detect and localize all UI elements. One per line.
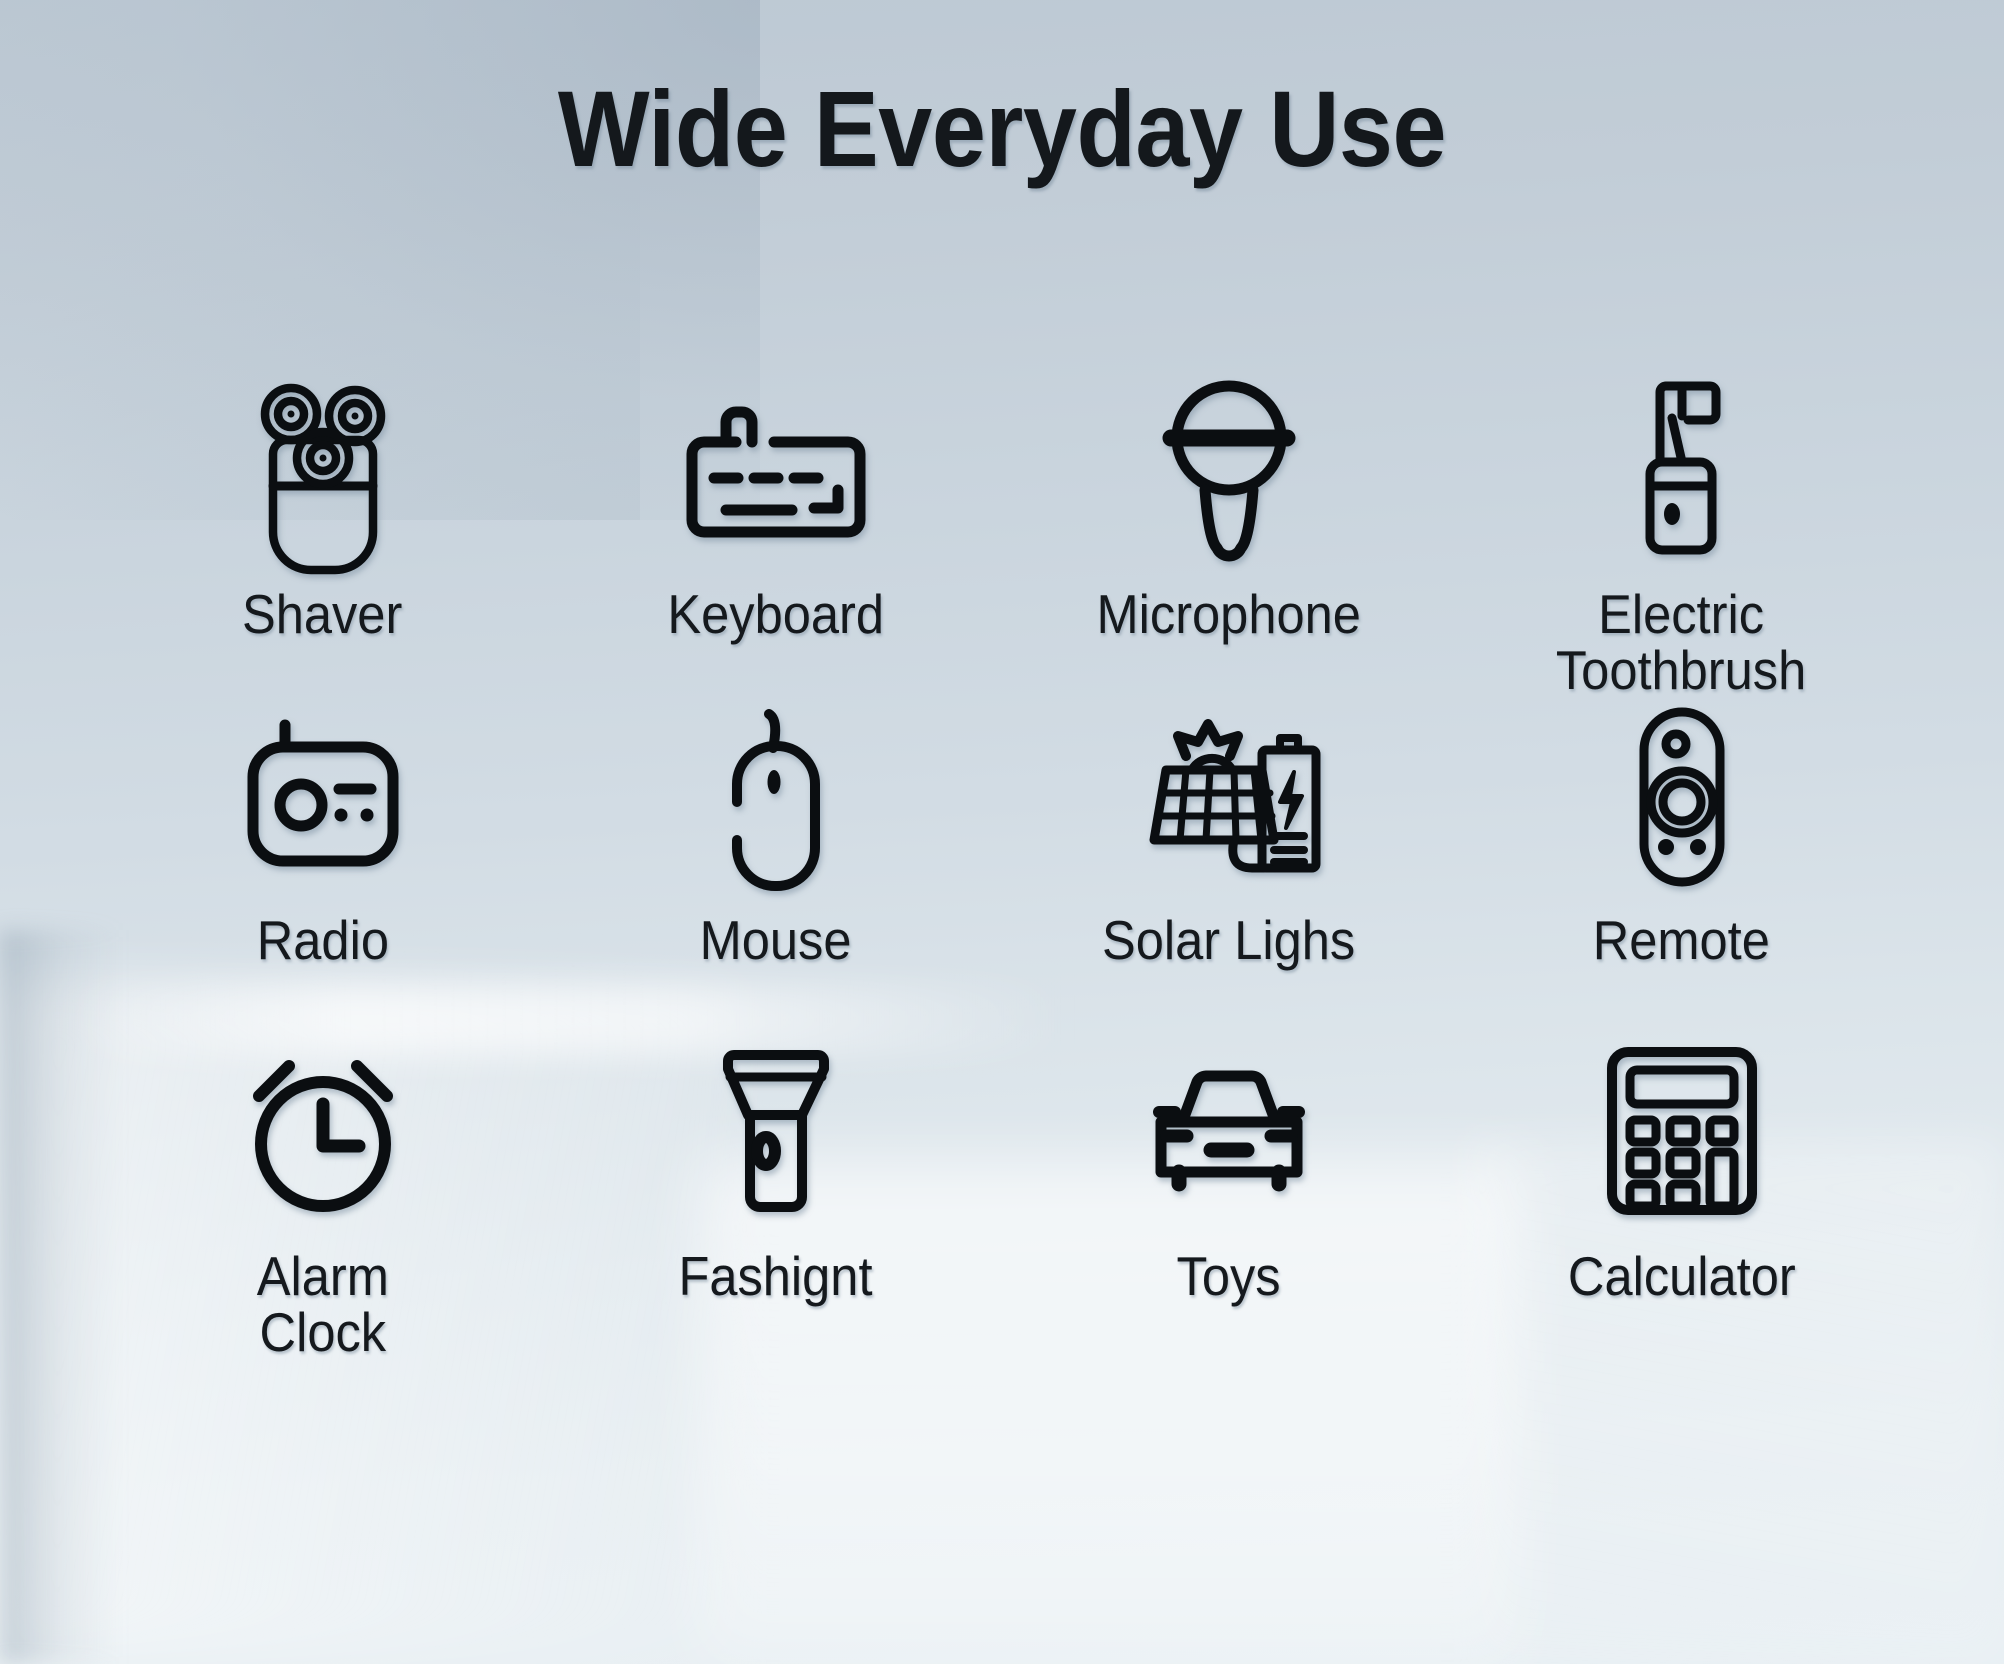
- feature-item-remote: Remote: [1455, 704, 1908, 1036]
- feature-item-mouse: Mouse: [549, 704, 1002, 1036]
- electric-toothbrush-icon: [1628, 372, 1736, 564]
- feature-item-alarm-clock: Alarm Clock: [96, 1036, 549, 1368]
- alarm-clock-icon: [237, 1036, 409, 1226]
- feature-item-solar-lights: Solar Lighs: [1002, 704, 1455, 1036]
- feature-label: Mouse: [700, 912, 852, 968]
- calculator-icon: [1602, 1036, 1762, 1226]
- microphone-icon: [1150, 372, 1308, 564]
- feature-item-flashlight: Fashignt: [549, 1036, 1002, 1368]
- feature-label: Remote: [1593, 912, 1770, 968]
- feature-label: Fashignt: [678, 1248, 872, 1304]
- feature-item-microphone: Microphone: [1002, 372, 1455, 704]
- feature-label: Keyboard: [667, 586, 884, 642]
- shaver-icon: [247, 372, 399, 564]
- feature-item-radio: Radio: [96, 704, 549, 1036]
- remote-control-icon: [1630, 704, 1734, 890]
- feature-label: Toys: [1176, 1248, 1280, 1304]
- toy-car-icon: [1135, 1036, 1323, 1226]
- feature-label: Shaver: [242, 586, 402, 642]
- feature-label: Radio: [256, 912, 388, 968]
- feature-item-shaver: Shaver: [96, 372, 549, 704]
- keyboard-icon: [682, 372, 870, 564]
- feature-label: Electric Toothbrush: [1556, 586, 1806, 698]
- page-title: Wide Everyday Use: [100, 72, 1904, 185]
- feature-item-toys: Toys: [1002, 1036, 1455, 1368]
- feature-label: Calculator: [1568, 1248, 1796, 1304]
- feature-label: Microphone: [1096, 586, 1360, 642]
- feature-label: Solar Lighs: [1102, 912, 1355, 968]
- feature-item-electric-toothbrush: Electric Toothbrush: [1455, 372, 1908, 704]
- feature-label: Alarm Clock: [256, 1248, 388, 1360]
- solar-light-icon: [1134, 704, 1324, 890]
- feature-grid: Shaver: [96, 372, 1908, 1368]
- feature-item-calculator: Calculator: [1455, 1036, 1908, 1368]
- feature-item-keyboard: Keyboard: [549, 372, 1002, 704]
- radio-icon: [239, 704, 407, 890]
- flashlight-icon: [722, 1036, 830, 1226]
- mouse-icon: [713, 704, 839, 890]
- product-feature-panel: Wide Everyday Use: [0, 0, 2004, 1664]
